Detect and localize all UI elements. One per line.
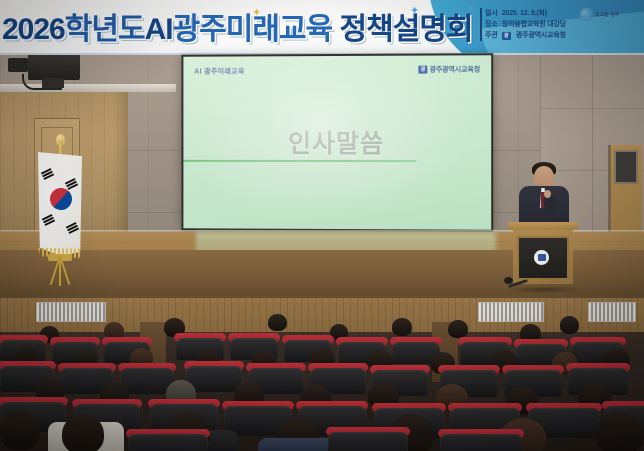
podium bbox=[508, 222, 578, 290]
podium-area bbox=[504, 160, 582, 290]
banner-info-value: 광주광역시교육청 bbox=[516, 30, 566, 41]
banner-info-value: 2025. 12. 9.(화) bbox=[502, 8, 547, 19]
banner-title: 2026학년도AI광주미래교육 정책설명회 bbox=[2, 4, 473, 48]
auditorium-seat bbox=[328, 432, 408, 451]
podium-top bbox=[508, 222, 578, 230]
audience-seating bbox=[0, 298, 644, 451]
audience-member bbox=[62, 414, 104, 451]
audience-member bbox=[268, 314, 287, 331]
seat-back bbox=[328, 432, 408, 451]
banner-info-block: 일시 2025. 12. 9.(화) 장소 창의융합교육원 대강당 주관 광 광… bbox=[480, 8, 566, 41]
seat-back bbox=[128, 434, 208, 451]
banner-corner-logo: 빛고을 광주 bbox=[580, 4, 638, 24]
audience-member bbox=[0, 410, 40, 450]
gwangju-education-emblem-icon bbox=[534, 250, 549, 265]
korean-flag bbox=[26, 136, 96, 276]
wall-vent bbox=[588, 302, 636, 322]
speaker-hand bbox=[544, 190, 551, 198]
banner-info-value: 창의융합교육원 대강당 bbox=[502, 19, 566, 30]
banner-title-ai: AI bbox=[145, 13, 173, 46]
slide-header-right-text: 광주광역시교육청 bbox=[429, 64, 480, 74]
banner-title-event: 정책설명회 bbox=[340, 13, 473, 46]
podium-microphone-icon bbox=[504, 268, 530, 288]
slide-header-left-text: AI 광주미래교육 bbox=[194, 68, 244, 75]
audience-member bbox=[560, 316, 579, 334]
audience-member bbox=[596, 412, 644, 451]
corner-logo-label: 빛고을 광주 bbox=[595, 11, 619, 18]
slide-title-rule bbox=[183, 160, 416, 162]
auditorium-photo: ✦ ✦ ✦ ✦ 2026학년도AI광주미래교육 정책설명회 일시 2025. 1… bbox=[0, 0, 644, 451]
banner-info-key: 일시 bbox=[480, 8, 498, 19]
banner-info-row: 주관 광 광주광역시교육청 bbox=[480, 30, 566, 41]
corner-logo-mark-icon bbox=[580, 8, 593, 21]
banner-info-row: 일시 2025. 12. 9.(화) bbox=[480, 8, 566, 19]
projection-screen: AI 광주미래교육 광 광주광역시교육청 인사말씀 bbox=[183, 55, 491, 229]
seat-back bbox=[440, 434, 522, 451]
wall-vent bbox=[36, 302, 106, 322]
slide-header-left: AI 광주미래교육 bbox=[194, 66, 244, 76]
banner-title-subject: 광주미래교육 bbox=[173, 13, 333, 46]
projection-screen-frame: AI 광주미래교육 광 광주광역시교육청 인사말씀 bbox=[181, 53, 493, 232]
audience-member bbox=[448, 320, 468, 338]
gwangju-education-mark-icon: 광 bbox=[502, 32, 511, 40]
banner-title-year: 2026 bbox=[2, 13, 65, 46]
auditorium-seat bbox=[440, 434, 522, 451]
banner-info-row: 장소 창의융합교육원 대강당 bbox=[480, 19, 566, 30]
door-window bbox=[614, 150, 638, 184]
slide-header-right: 광 광주광역시교육청 bbox=[418, 64, 480, 74]
wall-vent bbox=[478, 302, 544, 322]
audience-member bbox=[392, 318, 412, 336]
banner-info-key: 장소 bbox=[480, 19, 498, 30]
banner-title-mid: 학년도 bbox=[65, 13, 145, 46]
podium-shadow bbox=[504, 286, 584, 293]
banner-info-key: 주관 bbox=[480, 30, 498, 41]
event-banner: ✦ ✦ ✦ ✦ 2026학년도AI광주미래교육 정책설명회 일시 2025. 1… bbox=[0, 0, 644, 55]
flag-stand-leg bbox=[59, 256, 61, 286]
slide-title: 인사말씀 bbox=[183, 124, 491, 160]
gwangju-education-mark-icon: 광 bbox=[418, 66, 427, 74]
auditorium-seat bbox=[128, 434, 208, 451]
